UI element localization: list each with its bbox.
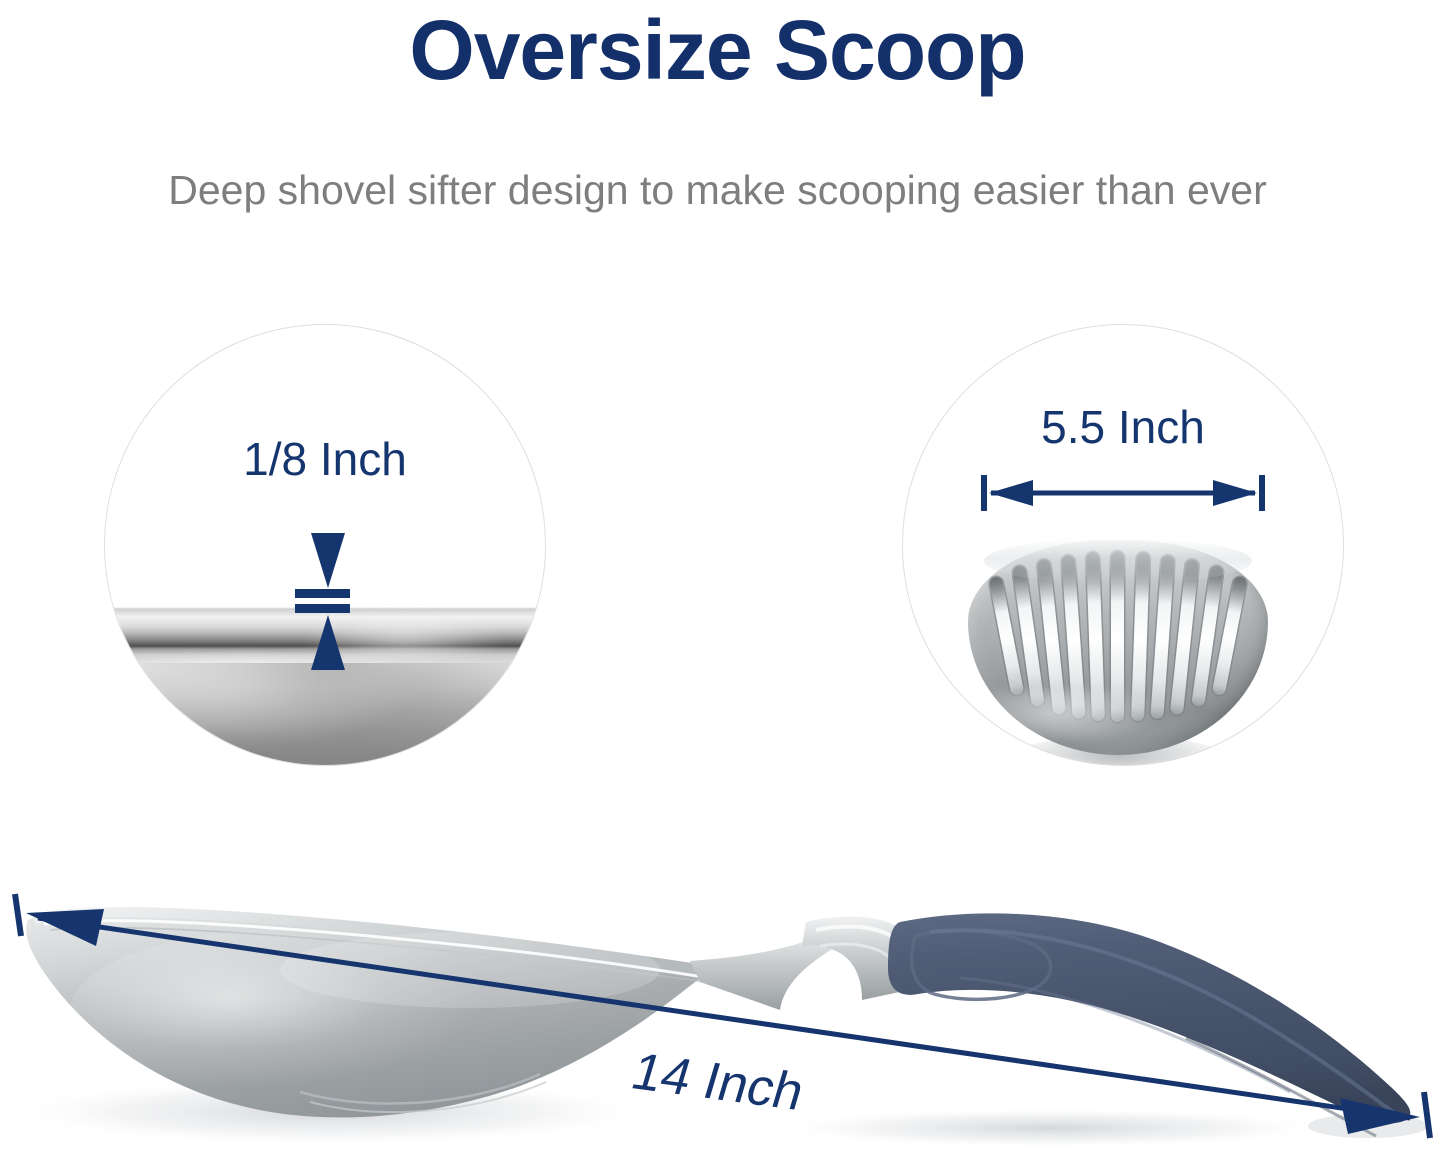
caliper-bar-lower (295, 604, 350, 613)
caliper-arrow-bottom (311, 615, 345, 670)
caliper-bar-upper (295, 589, 350, 598)
inset-circle-width: 5.5 Inch (902, 324, 1344, 766)
width-label: 5.5 Inch (903, 400, 1343, 454)
sifter-slot (1061, 555, 1085, 720)
scoop-illustration (0, 860, 1435, 1171)
infographic-page: Oversize Scoop Deep shovel sifter design… (0, 0, 1435, 1171)
sifter-head-photo (968, 540, 1268, 766)
bowl-bottom-shading (104, 663, 546, 766)
caliper-arrow-top (311, 533, 345, 588)
page-title: Oversize Scoop (0, 6, 1435, 94)
page-subtitle: Deep shovel sifter design to make scoopi… (0, 168, 1435, 213)
sifter-slot (1131, 552, 1150, 721)
sifter-slot (1111, 551, 1124, 722)
sifter-slot (1086, 552, 1105, 721)
product-photo-section (0, 860, 1435, 1171)
thickness-label: 1/8 Inch (105, 432, 545, 486)
width-dimension-arrow (981, 473, 1265, 513)
sifter-slot-group (1000, 548, 1236, 723)
